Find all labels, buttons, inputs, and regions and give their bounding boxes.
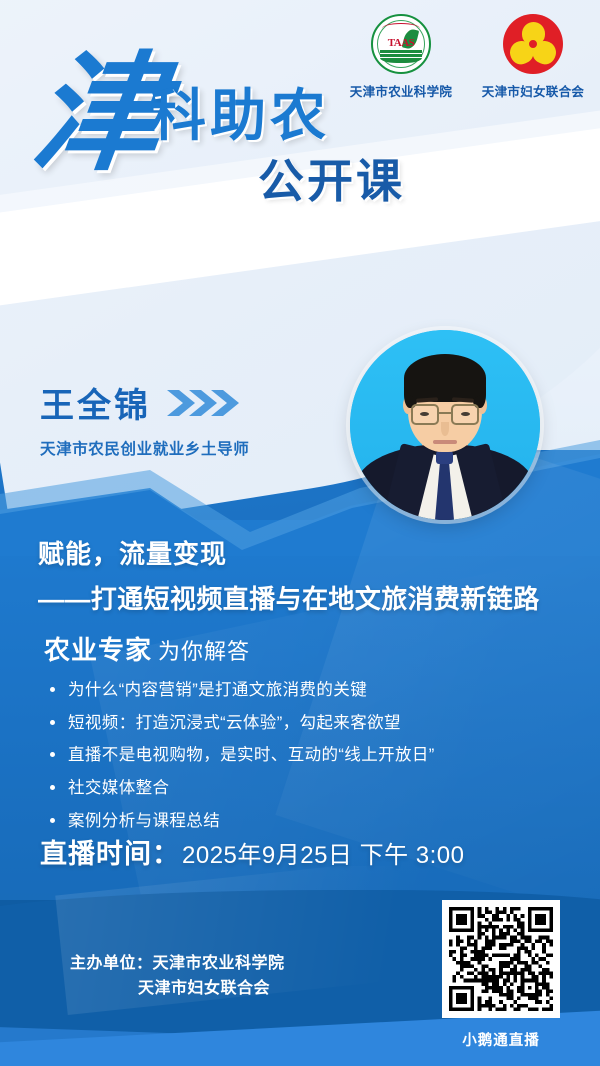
speaker-name: 王全锦 — [40, 378, 151, 427]
list-item: 案例分析与课程总结 — [46, 811, 546, 832]
page-subtitle: 公开课 — [258, 158, 405, 204]
list-item: 短视频：打造沉浸式“云体验”，勾起来客欲望 — [46, 713, 546, 734]
list-item: 社交媒体整合 — [46, 778, 546, 799]
speaker-block: 王全锦 天津市农民创业就业乡土导师 — [40, 378, 249, 459]
logo-item-acwf: 天津市妇女联合会 — [480, 14, 586, 100]
page-title-rest: 科助农 — [150, 88, 330, 144]
header-logos: TAAS 天津市农业科学院 天津市妇女联合会 — [348, 14, 592, 100]
expert-heading-light: 为你解答 — [158, 639, 250, 664]
logo-label-acwf: 天津市妇女联合会 — [482, 81, 584, 100]
list-item: 直播不是电视购物，是实时、互动的“线上开放日” — [46, 745, 546, 766]
womens-federation-icon — [503, 14, 563, 74]
topic-block: 赋能，流量变现 ——打通短视频直播与在地文旅消费新链路 — [38, 534, 540, 616]
logo-label-taas: 天津市农业科学院 — [350, 81, 452, 100]
topic-bullet-list: 为什么“内容营销”是打通文旅消费的关键 短视频：打造沉浸式“云体验”，勾起来客欲… — [46, 680, 546, 843]
list-item: 为什么“内容营销”是打通文旅消费的关键 — [46, 680, 546, 701]
organizer-line-1: 主办单位：天津市农业科学院 — [70, 952, 285, 977]
broadcast-time-label: 直播时间： — [40, 832, 180, 871]
poster-root: TAAS 天津市农业科学院 天津市妇女联合会 津 科助农 公开课 — [0, 0, 600, 1066]
speaker-portrait — [350, 330, 540, 520]
qr-code-icon[interactable] — [442, 900, 560, 1018]
logo-item-taas: TAAS 天津市农业科学院 — [348, 14, 454, 100]
broadcast-time: 直播时间： 2025年9月25日 下午 3:00 — [40, 832, 464, 871]
topic-line-1: 赋能，流量变现 — [38, 534, 540, 571]
page-title-primary-char: 津 — [26, 50, 170, 178]
broadcast-time-value: 2025年9月25日 下午 3:00 — [182, 835, 464, 870]
triple-chevron-right-icon — [165, 388, 245, 418]
expert-heading-bold: 农业专家 — [44, 635, 152, 665]
organizer-line-2: 天津市妇女联合会 — [70, 977, 285, 1002]
topic-line-2: ——打通短视频直播与在地文旅消费新链路 — [38, 579, 540, 616]
qr-caption: 小鹅通直播 — [442, 1029, 560, 1050]
organizer-block: 主办单位：天津市农业科学院 天津市妇女联合会 — [70, 952, 285, 1002]
speaker-role: 天津市农民创业就业乡土导师 — [40, 437, 249, 459]
taas-seal-icon: TAAS — [371, 14, 431, 74]
qr-block: 小鹅通直播 — [442, 900, 560, 1050]
expert-heading: 农业专家为你解答 — [44, 630, 250, 667]
